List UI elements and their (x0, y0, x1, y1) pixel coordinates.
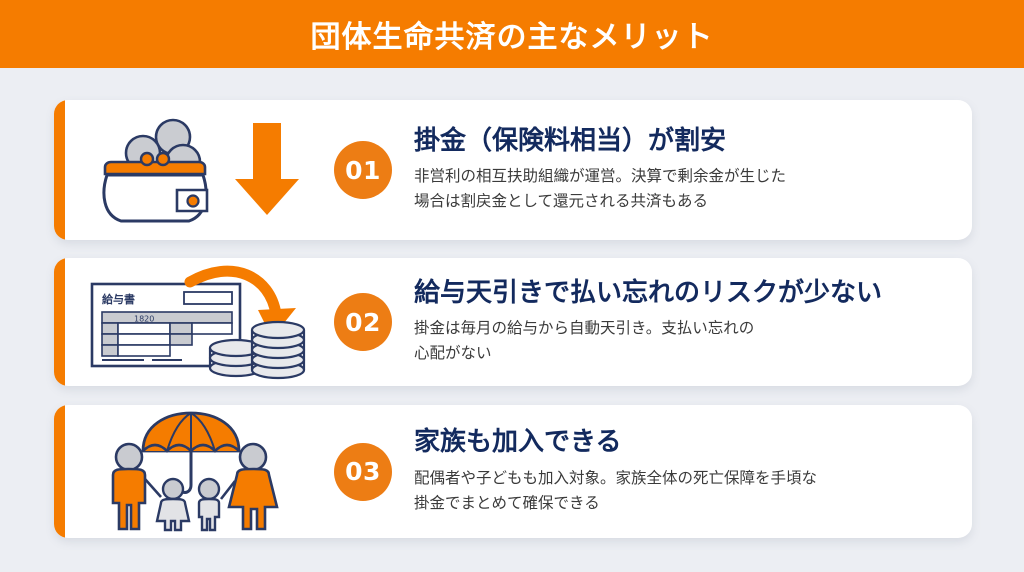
benefit-card-1[interactable]: 01 掛金（保険料相当）が割安 非営利の相互扶助組織が運営。決算で剰余金が生じた… (54, 100, 972, 240)
card-2-text: 給与天引きで払い忘れのリスクが少ない 掛金は毎月の給与から自動天引き。支払い忘れ… (392, 278, 972, 367)
payslip-amount: 1820 (134, 315, 154, 324)
card-2-description: 掛金は毎月の給与から自動天引き。支払い忘れの 心配がない (414, 316, 954, 366)
card-3-title: 家族も加入できる (414, 427, 954, 459)
card-3-icon-area (54, 405, 334, 538)
card-2-number-badge: 02 (334, 293, 392, 351)
card-3-text: 家族も加入できる 配偶者や子どもも加入対象。家族全体の死亡保障を手頃な 掛金でま… (392, 427, 972, 516)
card-1-description: 非営利の相互扶助組織が運営。決算で剰余金が生じた 場合は割戻金として還元される共… (414, 164, 954, 214)
card-1-text: 掛金（保険料相当）が割安 非営利の相互扶助組織が運営。決算で剰余金が生じた 場合… (392, 126, 972, 215)
card-2-title: 給与天引きで払い忘れのリスクが少ない (414, 278, 954, 310)
infographic-page: 団体生命共済の主なメリット (0, 0, 1024, 572)
card-1-icon-area (54, 100, 334, 240)
payslip-label: 給与書 (102, 292, 135, 306)
family-under-umbrella-icon (95, 411, 305, 533)
benefit-card-3[interactable]: 03 家族も加入できる 配偶者や子どもも加入対象。家族全体の死亡保障を手頃な 掛… (54, 405, 972, 538)
page-title: 団体生命共済の主なメリット (311, 12, 714, 56)
header-banner: 団体生命共済の主なメリット (0, 0, 1024, 68)
card-3-number-badge: 03 (334, 443, 392, 501)
card-1-number-badge: 01 (334, 141, 392, 199)
card-1-title: 掛金（保険料相当）が割安 (414, 126, 954, 158)
benefit-card-2[interactable]: 給与書 1820 (54, 258, 972, 386)
card-2-icon-area: 給与書 1820 (54, 258, 334, 386)
payslip-with-coins-icon: 給与書 1820 (82, 262, 318, 382)
card-3-description: 配偶者や子どもも加入対象。家族全体の死亡保障を手頃な 掛金でまとめて確保できる (414, 466, 954, 516)
coin-purse-with-down-arrow-icon (85, 111, 315, 229)
